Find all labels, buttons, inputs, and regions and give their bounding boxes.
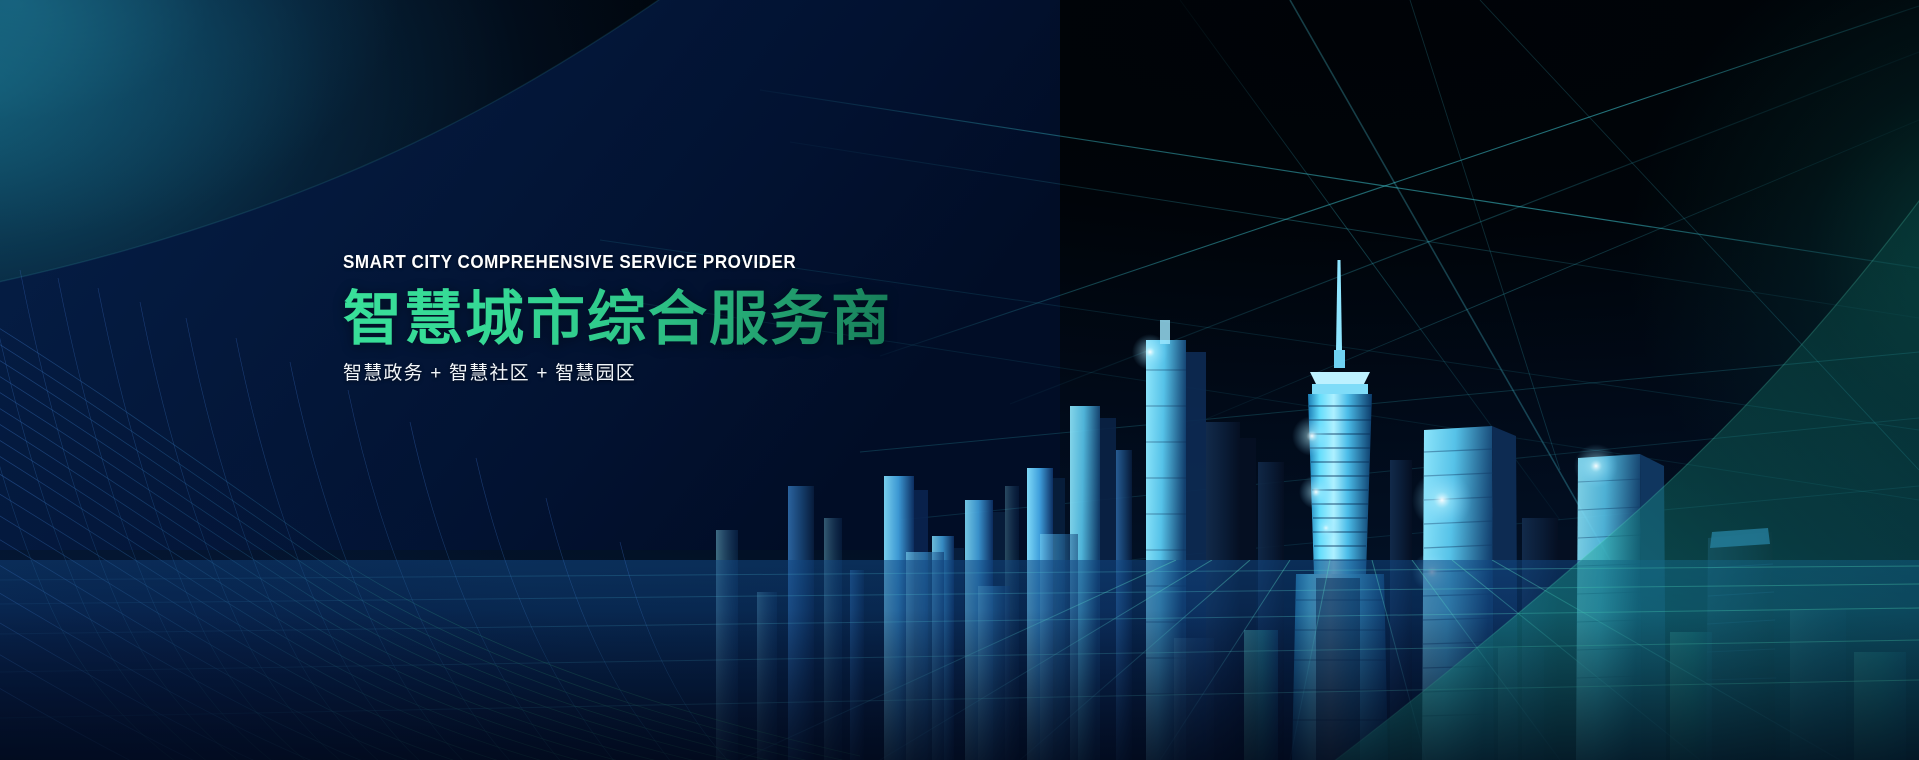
hero-headline-chinese: 智慧城市综合服务商 xyxy=(343,288,892,351)
hero-subline-services: 智慧政务 + 智慧社区 + 智慧园区 xyxy=(343,364,892,383)
hero-copy-block: SMART CITY COMPREHENSIVE SERVICE PROVIDE… xyxy=(343,253,892,383)
hero-eyebrow-english: SMART CITY COMPREHENSIVE SERVICE PROVIDE… xyxy=(343,253,848,272)
hero-banner: SMART CITY COMPREHENSIVE SERVICE PROVIDE… xyxy=(0,0,1919,760)
